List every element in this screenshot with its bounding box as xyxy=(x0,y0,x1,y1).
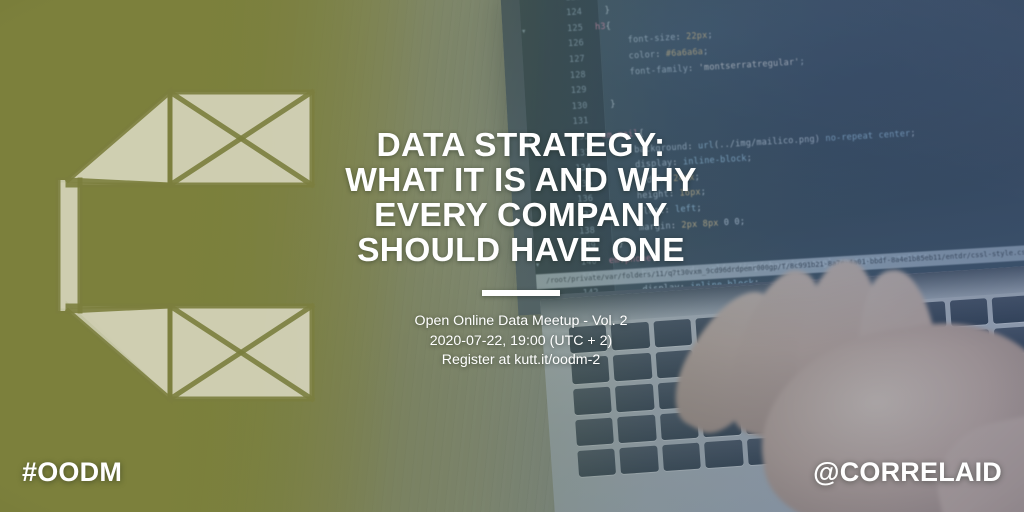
social-handle-label: @CORRELAID xyxy=(813,457,1002,488)
title-line-1: DATA STRATEGY: xyxy=(312,128,730,163)
title-line-4: SHOULD HAVE ONE xyxy=(312,233,730,268)
event-datetime: 2020-07-22, 19:00 (UTC + 2) xyxy=(312,332,730,352)
event-name: Open Online Data Meetup - Vol. 2 xyxy=(312,312,730,332)
hashtag-label: #OODM xyxy=(22,457,122,488)
event-details: Open Online Data Meetup - Vol. 2 2020-07… xyxy=(312,312,730,371)
correlaid-c-logo xyxy=(52,78,327,413)
page-title: DATA STRATEGY: WHAT IT IS AND WHY EVERY … xyxy=(312,128,730,268)
title-line-2: WHAT IT IS AND WHY xyxy=(312,163,730,198)
title-line-3: EVERY COMPANY xyxy=(312,198,730,233)
divider-rule xyxy=(482,290,560,296)
registration-link[interactable]: Register at kutt.it/oodm-2 xyxy=(312,351,730,371)
banner-canvas: 122 margin-bottom: 30px;123124 }▾125h3{1… xyxy=(0,0,1024,512)
headline-block: DATA STRATEGY: WHAT IT IS AND WHY EVERY … xyxy=(312,128,730,371)
